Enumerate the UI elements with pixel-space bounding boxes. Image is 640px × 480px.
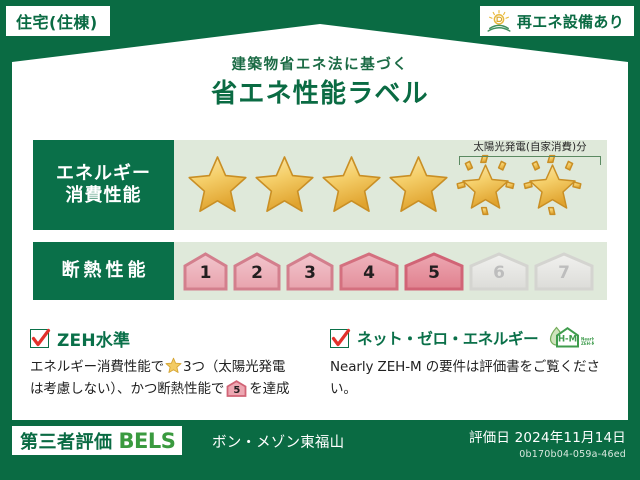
check-icon (330, 329, 349, 348)
insulation-grade-number: 3 (304, 265, 316, 291)
criteria-zeh-text-2: 3つ（太陽光発電 (183, 359, 285, 375)
renewable-equipment-label: 再エネ設備あり (517, 11, 624, 32)
insulation-rating-area: 1 2 3 (174, 242, 607, 300)
evaluation-date: 評価日 2024年11月14日 (469, 426, 626, 446)
star-filled (385, 152, 452, 218)
star-filled (251, 152, 318, 218)
dwelling-type-badge: 住宅(住棟) (6, 6, 110, 36)
insulation-grade-badge: 1 (182, 251, 229, 291)
page-title: 建築物省エネ法に基づく 省エネ性能ラベル (0, 58, 640, 110)
title-main: 省エネ性能ラベル (0, 78, 640, 111)
criteria-zeh-body: エネルギー消費性能で 3つ（太陽光発電 は考慮しない）、かつ断熱性能で 5 を達… (30, 357, 320, 401)
star-solar (452, 152, 519, 218)
insulation-grade-badge-inactive: 7 (533, 251, 595, 291)
energy-rating-area: 太陽光発電(自家消費)分 (174, 140, 607, 230)
insulation-grade-scale: 1 2 3 (182, 242, 595, 300)
insulation-grade-badge: 4 (338, 251, 400, 291)
bels-third-party-label: 第三者評価 (20, 428, 113, 454)
check-icon (30, 329, 49, 348)
insulation-grade-number: 6 (493, 265, 505, 291)
criteria-zeh-standard: ZEH水準 エネルギー消費性能で 3つ（太陽光発電 は考慮しない）、かつ断熱性能… (30, 326, 320, 401)
svg-text:ZEH-M: ZEH-M (581, 341, 594, 346)
criteria-zeh-header: ZEH水準 (30, 326, 320, 350)
energy-performance-label: エネルギー 消費性能 (33, 140, 174, 230)
criteria-nze-header: ネット・ゼロ・エネルギー H-M Nearly ZEH-M (330, 326, 615, 350)
insulation-grade-number: 7 (558, 265, 570, 291)
label-footer: 第三者評価 BELS ボン・メゾン東福山 評価日 2024年11月14日 0b1… (0, 420, 640, 480)
criteria-nze-title: ネット・ゼロ・エネルギー (357, 327, 538, 349)
energy-performance-row: エネルギー 消費性能 太陽光発電(自家消費)分 (33, 140, 607, 230)
criteria-nze-body: Nearly ZEH-M の要件は評価書をご覧ください。 (330, 357, 615, 401)
insulation-grade-badge: 3 (285, 251, 335, 291)
inline-house-number: 5 (226, 386, 247, 396)
zeh-m-logo-icon: H-M Nearly ZEH-M (548, 325, 594, 351)
insulation-performance-row: 断熱性能 1 (33, 242, 607, 300)
title-subtitle: 建築物省エネ法に基づく (0, 58, 640, 74)
inline-house-badge: 5 (226, 380, 247, 397)
criteria-net-zero-energy: ネット・ゼロ・エネルギー H-M Nearly ZEH-M Nearly ZEH… (330, 326, 615, 401)
energy-star-rating (184, 140, 607, 230)
dwelling-type-label: 住宅(住棟) (16, 9, 98, 33)
insulation-grade-number: 5 (428, 265, 440, 291)
evaluation-info: 評価日 2024年11月14日 0b170b04-059a-46ed (469, 426, 626, 460)
svg-text:H-M: H-M (558, 335, 577, 345)
star-solar (519, 152, 586, 218)
criteria-zeh-title: ZEH水準 (57, 326, 130, 351)
insulation-grade-number: 4 (363, 265, 375, 291)
star-filled (318, 152, 385, 218)
evaluation-id: 0b170b04-059a-46ed (469, 449, 626, 460)
inline-star-icon (165, 357, 182, 374)
insulation-grade-number: 2 (251, 265, 263, 291)
insulation-grade-badge: 2 (232, 251, 282, 291)
energy-label-line2: 消費性能 (66, 185, 142, 207)
bels-badge: 第三者評価 BELS (12, 426, 182, 455)
energy-label-line1: エネルギー (56, 163, 151, 185)
criteria-zeh-text-1: エネルギー消費性能で (30, 359, 164, 375)
insulation-performance-label: 断熱性能 (33, 242, 174, 300)
building-name: ボン・メゾン東福山 (212, 431, 344, 452)
renewable-equipment-badge: 再エネ設備あり (480, 6, 634, 36)
star-filled (184, 152, 251, 218)
criteria-zeh-text-4: を達成 (249, 381, 289, 397)
insulation-label-text: 断熱性能 (62, 260, 150, 282)
insulation-grade-number: 1 (200, 265, 212, 291)
sun-icon (486, 9, 512, 33)
energy-performance-label: 住宅(住棟) 再エネ設備あり 建築物省エネ法に基づく 省エネ性能ラベル (0, 0, 640, 480)
criteria-zeh-text-3: は考慮しない）、かつ断熱性能で (30, 381, 224, 397)
insulation-grade-badge: 5 (403, 251, 465, 291)
bels-mark: BELS (119, 429, 176, 453)
insulation-grade-badge-inactive: 6 (468, 251, 530, 291)
